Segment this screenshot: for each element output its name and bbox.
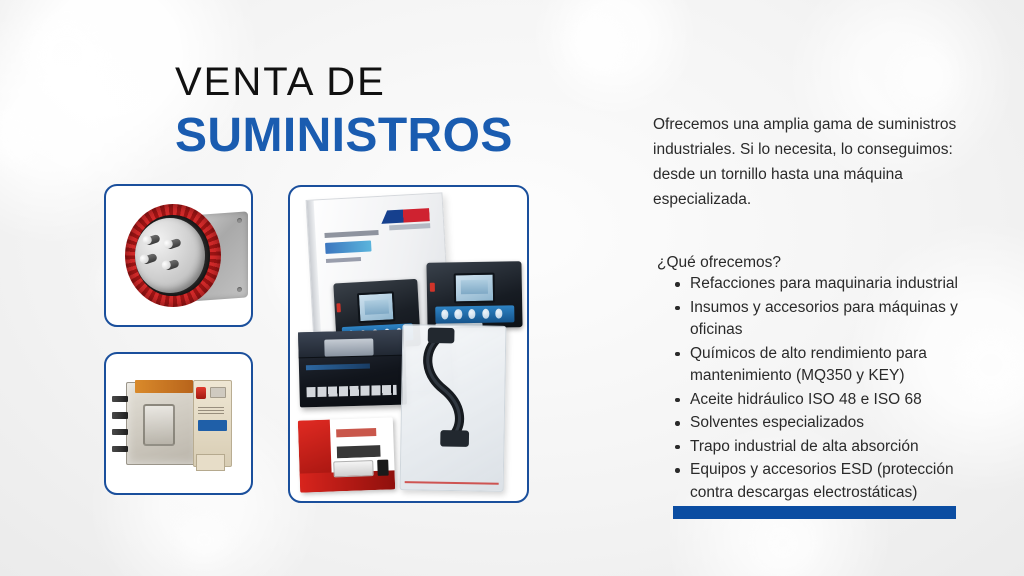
offer-question-heading: ¿Qué ofrecemos?: [657, 252, 781, 274]
list-item: Equipos y accesorios ESD (protección con…: [673, 459, 989, 504]
device-key: [482, 309, 489, 319]
plug-grey-body: [135, 218, 205, 293]
usb-flash-drive: [334, 460, 374, 477]
bag-red-seal-line: [405, 481, 499, 485]
relay-orange-contact-strip: [135, 380, 193, 393]
title-line-venta-de: VENTA DE: [175, 62, 513, 102]
bokeh-decoration: [0, 112, 38, 164]
relay-terminal-pin: [112, 396, 128, 402]
list-item-label: Aceite hidráulico ISO 48 e ISO 68: [690, 391, 922, 408]
plug-pin-tip: [139, 254, 150, 265]
device-lcd-content: [364, 300, 388, 315]
industrial-plug-photo: [106, 186, 251, 325]
usb-drive-cap: [377, 460, 389, 476]
list-item-label: Insumos y accesorios para máquinas y ofi…: [690, 299, 958, 339]
manual-product-name-text: [326, 241, 373, 254]
device-key: [442, 310, 449, 320]
bokeh-decoration: [566, 16, 624, 74]
list-item: Químicos de alto rendimiento para manten…: [673, 343, 989, 388]
bokeh-decoration: [180, 516, 228, 564]
device-red-indicator: [430, 283, 435, 292]
blue-accent-bar: [673, 506, 956, 519]
device-key: [496, 309, 503, 319]
box-blue-band: [307, 364, 371, 371]
bullet-dot-icon: [675, 445, 680, 450]
relay-rating-text: [198, 407, 224, 415]
list-item-label: Trapo industrial de alta absorción: [690, 438, 919, 455]
relay-indicator-window: [210, 387, 226, 398]
device-lcd-screen: [357, 291, 396, 324]
manual-subtitle-text: [326, 257, 361, 263]
plug-pin: [144, 234, 160, 246]
list-item: Trapo industrial de alta absorción: [673, 436, 989, 459]
manual-brand-logo: [381, 208, 430, 224]
device-keypad: [435, 305, 515, 324]
relay-brand-label: [198, 420, 227, 431]
cable-in-antistatic-bag: [400, 324, 507, 492]
dnc-device-kit-photo: [290, 187, 527, 501]
bullet-dot-icon: [675, 306, 680, 311]
image-panel-dnc-device-kit: [288, 185, 529, 503]
box-title-text: [307, 385, 397, 397]
device-key: [455, 310, 462, 320]
kingston-usb-blister-pack: [298, 418, 395, 493]
bullet-dot-icon: [675, 421, 680, 426]
plug-pin-tip: [162, 239, 173, 250]
plug-pin-tip: [141, 234, 152, 245]
manual-title-text: [325, 231, 379, 239]
relay-red-test-button: [196, 387, 206, 399]
bullet-dot-icon: [675, 468, 680, 473]
device-key: [469, 310, 476, 320]
relay-socket-foot: [196, 454, 225, 471]
list-item-label: Equipos y accesorios ESD (protección con…: [690, 461, 954, 501]
bokeh-decoration: [892, 46, 954, 108]
bokeh-decoration: [756, 516, 810, 570]
serial-cable-icon: [402, 325, 506, 449]
bullet-dot-icon: [675, 398, 680, 403]
title-line-suministros: SUMINISTROS: [175, 111, 513, 161]
relay-terminal-pin: [112, 429, 128, 435]
list-item-label: Refacciones para maquinaria industrial: [690, 275, 958, 292]
industrial-relay-photo: [106, 354, 251, 493]
list-item: Aceite hidráulico ISO 48 e ISO 68: [673, 389, 989, 412]
box-product-illustration: [324, 339, 373, 357]
plug-pin: [165, 238, 181, 250]
list-item-label: Solventes especializados: [690, 414, 864, 431]
bullet-dot-icon: [675, 282, 680, 287]
dnc-device-unit: [427, 262, 523, 330]
page-title: VENTA DE SUMINISTROS: [175, 62, 513, 161]
bullet-dot-icon: [675, 352, 680, 357]
pack-kingston-brand-text: [336, 428, 376, 437]
bokeh-decoration: [30, 18, 104, 92]
image-panel-industrial-plug: [104, 184, 253, 327]
offer-list: Refacciones para maquinaria industrial I…: [673, 273, 989, 505]
flange-screw-hole: [237, 287, 242, 292]
list-item: Solventes especializados: [673, 412, 989, 435]
plug-pin-tip: [161, 260, 172, 271]
manual-brand-subtext: [390, 224, 431, 231]
slide-canvas: VENTA DE SUMINISTROS: [0, 0, 1024, 576]
relay-coil: [143, 404, 175, 446]
relay-terminal-pin: [112, 446, 128, 452]
list-item: Insumos y accesorios para máquinas y ofi…: [673, 297, 989, 342]
relay-terminal-pin: [112, 412, 128, 418]
pack-capacity-text-32gb: [337, 438, 381, 458]
relay-transparent-housing: [126, 382, 199, 465]
flange-screw-hole: [237, 218, 242, 223]
device-red-indicator: [337, 304, 342, 314]
intro-paragraph: Ofrecemos una amplia gama de suministros…: [653, 112, 983, 212]
dnc-device-retail-box: [299, 330, 408, 408]
plug-pin: [163, 259, 179, 271]
plug-pin: [141, 253, 157, 265]
list-item: Refacciones para maquinaria industrial: [673, 273, 989, 296]
device-lcd-content: [461, 280, 488, 294]
image-panel-industrial-relay: [104, 352, 253, 495]
list-item-label: Químicos de alto rendimiento para manten…: [690, 345, 927, 385]
device-lcd-screen: [454, 273, 496, 304]
